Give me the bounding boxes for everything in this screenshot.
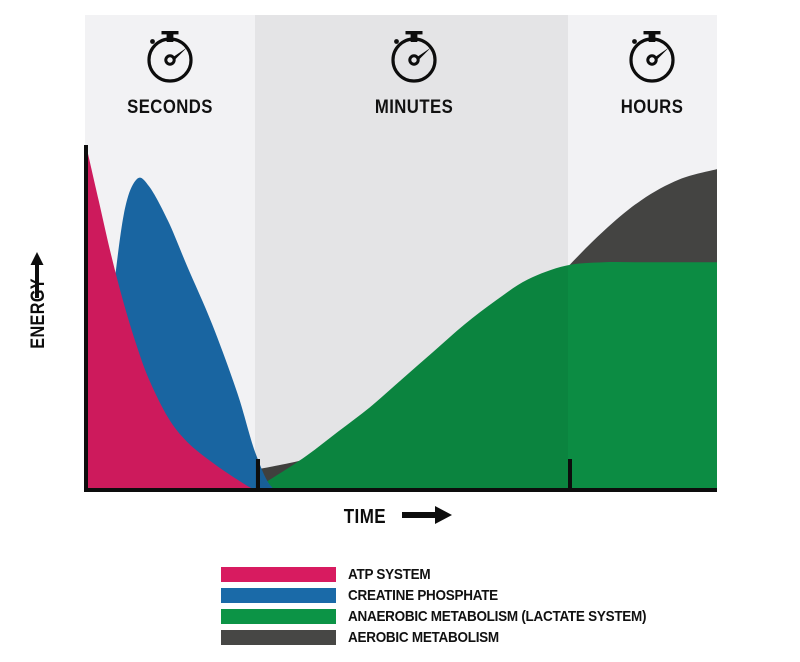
y-axis-title-text: ENERGY — [28, 278, 50, 349]
legend-item: CREATINE PHOSPHATE — [221, 586, 679, 604]
arrow-right-icon — [402, 505, 452, 530]
legend-swatch — [221, 630, 336, 645]
period-header-seconds: SECONDS — [85, 24, 255, 119]
legend: ATP SYSTEMCREATINE PHOSPHATEANAEROBIC ME… — [221, 565, 679, 649]
legend-label: AEROBIC METABOLISM — [348, 629, 499, 646]
legend-item: ATP SYSTEM — [221, 565, 679, 583]
x-axis-tick-1 — [256, 459, 260, 489]
legend-label: ANAEROBIC METABOLISM (LACTATE SYSTEM) — [348, 608, 646, 625]
stopwatch-icon — [620, 24, 684, 88]
legend-swatch — [221, 609, 336, 624]
energy-system-curves — [86, 145, 717, 490]
period-label-hours: HOURS — [577, 97, 727, 119]
legend-item: ANAEROBIC METABOLISM (LACTATE SYSTEM) — [221, 607, 679, 625]
stopwatch-icon — [138, 24, 202, 88]
period-header-minutes: MINUTES — [329, 24, 499, 119]
period-label-minutes: MINUTES — [339, 97, 489, 119]
legend-swatch — [221, 588, 336, 603]
x-axis-line — [84, 488, 717, 492]
y-axis-line — [84, 145, 88, 490]
legend-label: ATP SYSTEM — [348, 566, 430, 583]
chart-canvas: SECONDS MINUTES HOURS — [0, 0, 800, 662]
stopwatch-icon — [382, 24, 446, 88]
period-label-seconds: SECONDS — [95, 97, 245, 119]
period-header-hours: HOURS — [567, 24, 737, 119]
plot-area — [86, 145, 717, 490]
x-axis-tick-2 — [568, 459, 572, 489]
legend-item: AEROBIC METABOLISM — [221, 628, 679, 646]
x-axis-title: TIME — [340, 505, 452, 530]
x-axis-title-text: TIME — [344, 506, 386, 529]
legend-swatch — [221, 567, 336, 582]
y-axis-title: ENERGY — [26, 248, 52, 378]
legend-label: CREATINE PHOSPHATE — [348, 587, 498, 604]
